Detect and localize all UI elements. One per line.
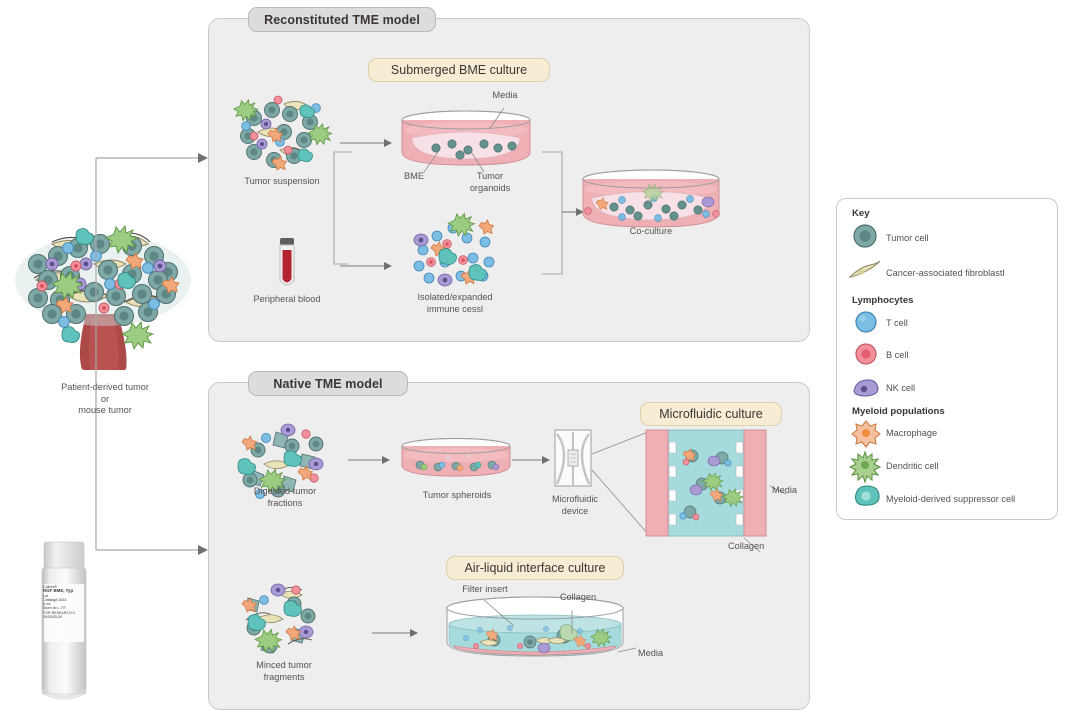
digested-tumor-label: Digested tumor fractions [232, 486, 338, 509]
isolated-immune-cells-illustration [405, 218, 505, 290]
key-label-t-cell: T cell [886, 318, 908, 328]
tumor-organoids-label: Tumor organoids [460, 171, 520, 194]
isolated-immune-cells-label: Isolated/expanded immune cessl [395, 292, 515, 315]
peripheral-blood-tube [275, 238, 299, 294]
subtab-ali[interactable]: Air-liquid interface culture [446, 556, 624, 580]
media-label-bme: Media [475, 90, 535, 102]
key-icon-macrophage [852, 420, 880, 446]
key-label-nk-cell: NK cell [886, 383, 915, 393]
ali-collagen-label: Collagen [548, 592, 608, 604]
tumor-suspension-label: Tumor suspension [232, 176, 332, 188]
panel-tab-reconstituted[interactable]: Reconstituted TME model [248, 7, 436, 32]
arrow-minced-to-ali [372, 625, 426, 641]
source-branch-arrows [90, 140, 220, 570]
key-icon-t-cell [854, 310, 878, 334]
microfluidic-device-icon [552, 428, 594, 490]
bme-vial [36, 538, 96, 718]
tumor-suspension-illustration [228, 92, 334, 174]
key-label-tumor-cell: Tumor cell [886, 233, 929, 243]
ali-media-label: Media [638, 648, 678, 660]
key-heading-myeloid: Myeloid populations [852, 406, 945, 417]
vial-label-text: Cultrex® RGF BME, Typ Lot Catalog# 3533 … [43, 585, 99, 619]
bracket-suspension-to-immune [330, 150, 354, 268]
key-label-mdsc: Myeloid-derived suppressor cell [886, 494, 1015, 504]
key-icon-tumor-cell [852, 223, 878, 249]
minced-tumor-fragments-illustration [236, 584, 330, 656]
key-icon-dendritic-cell [850, 451, 880, 479]
microfluidic-media-label: Media [772, 485, 816, 497]
minced-tumor-label: Minced tumor fragments [231, 660, 337, 683]
filter-insert-label: Filter insert [448, 584, 522, 596]
key-icon-nk-cell [852, 375, 880, 399]
bme-label: BME [390, 171, 438, 183]
tumor-spheroids-label: Tumor spheroids [404, 490, 510, 502]
microfluidic-leader-lines [700, 468, 810, 568]
arrow-digested-to-spheroids [348, 452, 396, 468]
key-heading-lymphocytes: Lymphocytes [852, 295, 914, 306]
microfluidic-collagen-label: Collagen [728, 541, 784, 553]
coculture-label: Co-culture [608, 226, 694, 238]
key-label-b-cell: B cell [886, 350, 908, 360]
key-title: Key [852, 208, 870, 219]
key-label-caf: Cancer-associated fibroblastl [886, 268, 1004, 278]
panel-tab-native[interactable]: Native TME model [248, 371, 408, 396]
key-icon-b-cell [854, 342, 878, 366]
key-icon-mdsc [852, 484, 880, 510]
peripheral-blood-label: Peripheral blood [237, 294, 337, 306]
key-label-dendritic-cell: Dendritic cell [886, 461, 939, 471]
subtab-microfluidic[interactable]: Microfluidic culture [640, 402, 782, 426]
arrow-spheroids-to-device [512, 452, 556, 468]
key-label-macrophage: Macrophage [886, 428, 937, 438]
tumor-spheroids-dish [398, 437, 514, 485]
arrow-suspension-to-dish [340, 135, 400, 151]
subtab-submerged-bme[interactable]: Submerged BME culture [368, 58, 550, 82]
key-icon-caf [848, 258, 882, 284]
